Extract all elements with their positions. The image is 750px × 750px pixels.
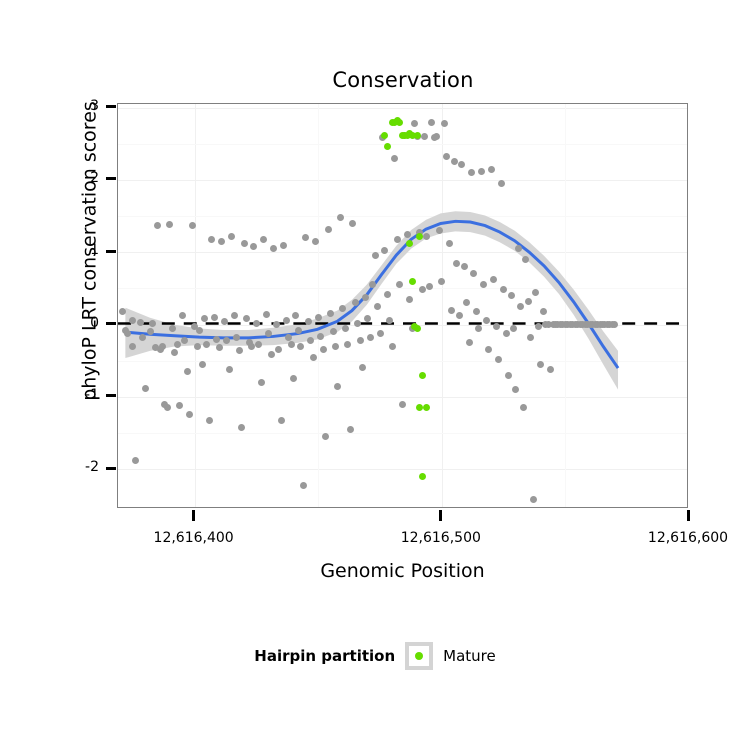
data-point bbox=[399, 401, 406, 408]
data-point bbox=[419, 286, 426, 293]
data-point bbox=[265, 330, 272, 337]
data-point bbox=[238, 424, 245, 431]
data-point bbox=[419, 372, 426, 379]
chart-title: Conservation bbox=[117, 68, 689, 92]
data-point bbox=[221, 318, 228, 325]
data-point bbox=[280, 242, 287, 249]
data-point bbox=[159, 343, 166, 350]
x-tick-mark bbox=[687, 510, 690, 521]
data-point bbox=[233, 334, 240, 341]
gridline-x-minor bbox=[565, 104, 566, 507]
gridline-y bbox=[118, 469, 687, 470]
data-point bbox=[396, 119, 403, 126]
data-point bbox=[428, 119, 435, 126]
data-point bbox=[384, 291, 391, 298]
gridline-y bbox=[118, 108, 687, 109]
data-point bbox=[196, 327, 203, 334]
data-point bbox=[473, 308, 480, 315]
data-point bbox=[199, 361, 206, 368]
data-point bbox=[530, 496, 537, 503]
data-point bbox=[211, 314, 218, 321]
data-point bbox=[302, 234, 309, 241]
legend-marker-icon bbox=[415, 652, 423, 660]
data-point bbox=[433, 133, 440, 140]
gridline-x-minor bbox=[318, 104, 319, 507]
data-point bbox=[300, 482, 307, 489]
data-point bbox=[377, 330, 384, 337]
data-point bbox=[384, 143, 391, 150]
data-point bbox=[139, 334, 146, 341]
data-point bbox=[119, 308, 126, 315]
data-point bbox=[189, 222, 196, 229]
data-point bbox=[488, 166, 495, 173]
data-point bbox=[389, 343, 396, 350]
data-point bbox=[503, 330, 510, 337]
data-point bbox=[359, 364, 366, 371]
data-point bbox=[250, 243, 257, 250]
data-point bbox=[290, 375, 297, 382]
data-point bbox=[228, 233, 235, 240]
y-tick-mark bbox=[106, 322, 116, 325]
data-point bbox=[347, 426, 354, 433]
y-tick-mark bbox=[106, 394, 116, 397]
data-point bbox=[611, 321, 618, 328]
data-point bbox=[137, 319, 144, 326]
data-point bbox=[414, 132, 421, 139]
data-point bbox=[453, 260, 460, 267]
data-point bbox=[394, 236, 401, 243]
data-point bbox=[386, 317, 393, 324]
data-point bbox=[248, 343, 255, 350]
data-point bbox=[184, 368, 191, 375]
data-point bbox=[421, 133, 428, 140]
data-point bbox=[263, 311, 270, 318]
data-point bbox=[283, 317, 290, 324]
data-point bbox=[495, 356, 502, 363]
data-point bbox=[414, 325, 421, 332]
legend: Hairpin partition Mature bbox=[0, 642, 750, 670]
data-point bbox=[423, 233, 430, 240]
data-point bbox=[463, 299, 470, 306]
data-point bbox=[510, 325, 517, 332]
data-point bbox=[305, 318, 312, 325]
y-axis-label: phyloP LRT conservation scores bbox=[79, 49, 101, 454]
data-point bbox=[406, 240, 413, 247]
gridline-y bbox=[118, 397, 687, 398]
data-point bbox=[349, 220, 356, 227]
data-point bbox=[483, 317, 490, 324]
data-point bbox=[285, 334, 292, 341]
data-point bbox=[446, 240, 453, 247]
y-tick-mark bbox=[106, 177, 116, 180]
data-point bbox=[325, 226, 332, 233]
data-point bbox=[500, 286, 507, 293]
data-point bbox=[416, 233, 423, 240]
data-point bbox=[243, 315, 250, 322]
data-point bbox=[201, 315, 208, 322]
data-point bbox=[154, 222, 161, 229]
data-point bbox=[342, 325, 349, 332]
data-point bbox=[438, 278, 445, 285]
data-point bbox=[381, 132, 388, 139]
conservation-chart-figure: Conservation -2-10123 12,616,40012,616,5… bbox=[0, 0, 750, 750]
data-point bbox=[357, 337, 364, 344]
data-point bbox=[206, 417, 213, 424]
data-point bbox=[419, 473, 426, 480]
gridline-x bbox=[442, 104, 443, 507]
data-point bbox=[297, 343, 304, 350]
curve-overlay bbox=[118, 104, 687, 507]
data-point bbox=[532, 289, 539, 296]
data-point bbox=[515, 245, 522, 252]
data-point bbox=[456, 312, 463, 319]
data-point bbox=[498, 180, 505, 187]
data-point bbox=[517, 303, 524, 310]
data-point bbox=[404, 231, 411, 238]
data-point bbox=[186, 411, 193, 418]
data-point bbox=[448, 307, 455, 314]
data-point bbox=[396, 281, 403, 288]
data-point bbox=[218, 238, 225, 245]
data-point bbox=[332, 343, 339, 350]
data-point bbox=[508, 292, 515, 299]
legend-title: Hairpin partition bbox=[254, 647, 395, 665]
y-tick-mark bbox=[106, 250, 116, 253]
data-point bbox=[522, 256, 529, 263]
gridline-y-minor bbox=[118, 216, 687, 217]
data-point bbox=[334, 383, 341, 390]
data-point bbox=[295, 327, 302, 334]
data-point bbox=[337, 214, 344, 221]
data-point bbox=[288, 341, 295, 348]
data-point bbox=[423, 404, 430, 411]
data-point bbox=[391, 155, 398, 162]
y-tick-mark bbox=[106, 105, 116, 108]
gridline-y bbox=[118, 252, 687, 253]
data-point bbox=[374, 303, 381, 310]
data-point bbox=[367, 334, 374, 341]
data-point bbox=[327, 310, 334, 317]
plot-panel bbox=[117, 103, 688, 508]
data-point bbox=[171, 349, 178, 356]
data-point bbox=[443, 153, 450, 160]
gridline-y-minor bbox=[118, 433, 687, 434]
data-point bbox=[231, 312, 238, 319]
y-tick-label: -2 bbox=[59, 459, 99, 475]
data-point bbox=[409, 278, 416, 285]
data-point bbox=[426, 283, 433, 290]
data-point bbox=[174, 341, 181, 348]
data-point bbox=[203, 341, 210, 348]
data-point bbox=[216, 344, 223, 351]
data-point bbox=[310, 354, 317, 361]
data-point bbox=[260, 236, 267, 243]
data-point bbox=[352, 299, 359, 306]
data-point bbox=[520, 404, 527, 411]
data-point bbox=[307, 337, 314, 344]
data-point bbox=[480, 281, 487, 288]
data-point bbox=[416, 404, 423, 411]
data-point bbox=[369, 281, 376, 288]
data-point bbox=[278, 417, 285, 424]
data-point bbox=[505, 372, 512, 379]
gridline-x bbox=[195, 104, 196, 507]
data-point bbox=[537, 361, 544, 368]
data-point bbox=[226, 366, 233, 373]
data-point bbox=[354, 320, 361, 327]
data-point bbox=[241, 240, 248, 247]
data-point bbox=[330, 328, 337, 335]
data-point bbox=[490, 276, 497, 283]
data-point bbox=[468, 169, 475, 176]
data-point bbox=[169, 325, 176, 332]
data-point bbox=[258, 379, 265, 386]
data-point bbox=[142, 385, 149, 392]
data-point bbox=[149, 320, 156, 327]
data-point bbox=[436, 227, 443, 234]
data-point bbox=[322, 433, 329, 440]
data-point bbox=[535, 323, 542, 330]
data-point bbox=[547, 366, 554, 373]
data-point bbox=[268, 351, 275, 358]
data-point bbox=[223, 337, 230, 344]
data-point bbox=[253, 320, 260, 327]
data-point bbox=[540, 308, 547, 315]
data-point bbox=[270, 245, 277, 252]
data-point bbox=[344, 341, 351, 348]
data-point bbox=[461, 263, 468, 270]
data-point bbox=[236, 347, 243, 354]
data-point bbox=[475, 325, 482, 332]
data-point bbox=[470, 270, 477, 277]
data-point bbox=[124, 330, 131, 337]
gridline-y bbox=[118, 180, 687, 181]
data-point bbox=[164, 404, 171, 411]
data-point bbox=[527, 334, 534, 341]
data-point bbox=[275, 346, 282, 353]
data-point bbox=[273, 321, 280, 328]
data-point bbox=[132, 457, 139, 464]
data-point bbox=[129, 317, 136, 324]
data-point bbox=[181, 337, 188, 344]
data-point bbox=[317, 333, 324, 340]
y-tick-mark bbox=[106, 467, 116, 470]
data-point bbox=[213, 336, 220, 343]
data-point bbox=[194, 343, 201, 350]
x-tick-label: 12,616,600 bbox=[618, 530, 750, 546]
data-point bbox=[147, 328, 154, 335]
x-tick-label: 12,616,500 bbox=[371, 530, 511, 546]
data-point bbox=[441, 120, 448, 127]
data-point bbox=[292, 312, 299, 319]
data-point bbox=[315, 314, 322, 321]
data-point bbox=[362, 294, 369, 301]
data-point bbox=[406, 296, 413, 303]
data-point bbox=[493, 323, 500, 330]
data-point bbox=[458, 161, 465, 168]
data-point bbox=[466, 339, 473, 346]
data-point bbox=[255, 341, 262, 348]
data-point bbox=[320, 346, 327, 353]
legend-entry-label: Mature bbox=[443, 647, 496, 665]
data-point bbox=[166, 221, 173, 228]
data-point bbox=[179, 312, 186, 319]
data-point bbox=[372, 252, 379, 259]
data-point bbox=[339, 305, 346, 312]
data-point bbox=[451, 158, 458, 165]
data-point bbox=[512, 386, 519, 393]
x-axis-label: Genomic Position bbox=[117, 560, 688, 582]
data-point bbox=[525, 298, 532, 305]
legend-key-mature[interactable] bbox=[405, 642, 433, 670]
data-point bbox=[129, 343, 136, 350]
data-point bbox=[208, 236, 215, 243]
data-point bbox=[485, 346, 492, 353]
x-tick-mark bbox=[439, 510, 442, 521]
data-point bbox=[381, 247, 388, 254]
data-point bbox=[364, 315, 371, 322]
gridline-y-minor bbox=[118, 288, 687, 289]
data-point bbox=[478, 168, 485, 175]
x-tick-mark bbox=[192, 510, 195, 521]
data-point bbox=[176, 402, 183, 409]
x-tick-label: 12,616,400 bbox=[124, 530, 264, 546]
gridline-y-minor bbox=[118, 144, 687, 145]
data-point bbox=[411, 120, 418, 127]
